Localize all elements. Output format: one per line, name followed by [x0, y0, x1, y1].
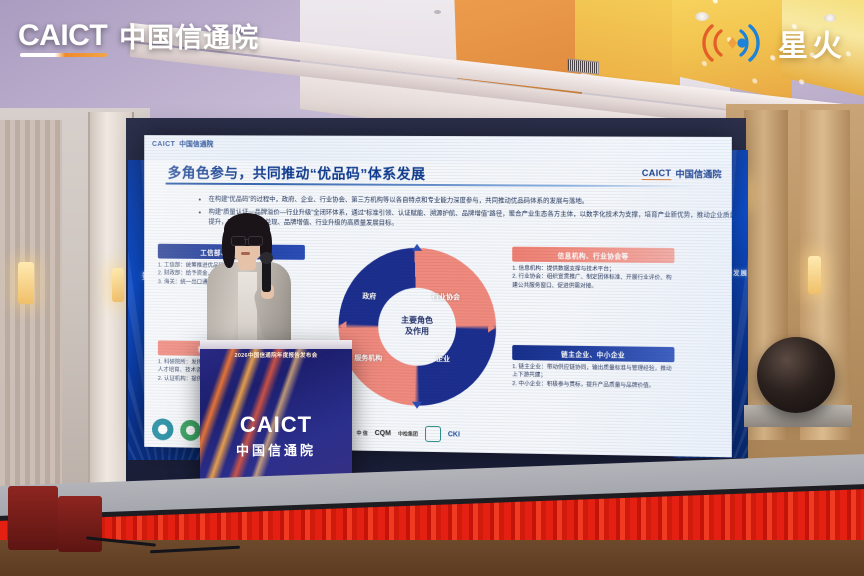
card-bottom-right-line-1: 1. 链主企业：带动供应链协同，输出质量标准与管理经验，推动上下游共建； — [512, 363, 674, 382]
card-bottom-right-header: 链主企业、中小企业 — [512, 345, 674, 362]
partner-logo-1 — [152, 418, 173, 440]
slide-brand-right-chinese: 中国信通院 — [675, 167, 721, 180]
card-top-right-body: 1. 信息机构：提供数据支撑与技术平台； 2. 行业协会：组织宣贯推广、制定团体… — [512, 265, 674, 292]
donut-segment-label-enterprise: 企业 — [436, 354, 450, 364]
wall-sconce-right — [808, 256, 821, 294]
podium-logo-latin: CAICT — [200, 412, 352, 438]
donut-arrow-right — [488, 323, 495, 333]
donut-center-line1: 主要角色 — [401, 316, 433, 327]
card-top-right-header: 信息机构、行业协会等 — [512, 247, 674, 264]
slide-brand-right: CAICT 中国信通院 — [642, 167, 722, 181]
partner-logo-9: 中 信 — [356, 429, 367, 436]
chair-left-2 — [58, 496, 102, 552]
podium-logo-chinese: 中国信通院 — [200, 440, 352, 459]
signal-waves-icon — [692, 20, 770, 66]
wall-sconce-left-2 — [112, 268, 124, 302]
card-bottom-right-body: 1. 链主企业：带动供应链协同，输出质量标准与管理经验，推动上下游共建； 2. … — [512, 363, 674, 391]
partner-logo-13: CKI — [448, 431, 460, 438]
speaker-hair-left — [222, 228, 235, 268]
slide-title: 多角色参与，共同推动“优品码”体系发展 — [168, 163, 426, 184]
watermark-caict-chinese: 中国信通院 — [119, 16, 259, 55]
chair-left-1 — [8, 486, 58, 550]
slide-brand-left-latin: CAICT — [152, 141, 175, 148]
glasses-icon-right-lens — [248, 236, 263, 246]
podium-logo: CAICT 中国信通院 — [200, 412, 352, 459]
donut-center-line2: 及作用 — [405, 327, 429, 338]
watermark-top-right: 星火 — [692, 20, 846, 66]
decorative-vase — [757, 337, 835, 413]
donut-segment-label-service: 服务机构 — [354, 353, 382, 363]
donut-arrow-top — [412, 244, 422, 251]
card-top-right-line-2: 2. 行业协会：组织宣贯推广、制定团体标准、开展行业评价、构建公共服务窗口、促进… — [512, 273, 674, 292]
slide-top-bar — [144, 135, 732, 163]
partner-logo-2 — [180, 419, 201, 440]
glasses-icon-bridge — [244, 239, 248, 240]
microphone-icon-head — [260, 252, 273, 264]
slide-brand-right-latin: CAICT — [642, 167, 672, 179]
glasses-icon-left-lens — [231, 236, 246, 246]
watermark-xinghuo-chinese: 星火 — [778, 21, 846, 65]
role-donut-chart: 主要角色 及作用 政府 行业协会 企业 服务机构 — [339, 247, 497, 407]
screenshot-root: 数据智能产 专题 数据智能产业创新发展 专题论坛 CAICT 中国信通院 CAI… — [0, 0, 864, 576]
slide-bullet-1: 在构建“优品码”的过程中，政府、企业、行业协会、第三方机构等以各自特点和专业能力… — [209, 195, 732, 208]
card-top-right: 信息机构、行业协会等 1. 信息机构：提供数据支撑与技术平台； 2. 行业协会：… — [512, 247, 674, 292]
card-bottom-right: 链主企业、中小企业 1. 链主企业：带动供应链协同，输出质量标准与管理经验，推动… — [512, 345, 674, 391]
speaker-mouth — [241, 252, 250, 255]
card-bottom-right-line-2: 2. 中小企业：积极参与贯标，提升产品质量与品牌价值。 — [512, 380, 674, 391]
slide-brand-left: CAICT 中国信通院 — [152, 139, 213, 149]
slide-brand-left-chinese: 中国信通院 — [179, 139, 213, 149]
partner-logo-11: 中检集团 — [398, 430, 418, 437]
donut-segment-label-government: 政府 — [362, 291, 376, 301]
slide-title-underline — [166, 183, 697, 188]
donut-arrow-bottom — [412, 402, 422, 409]
slide-bullet-2: 构建“质量认证—品牌溢价—行业升级”全闭环体系，通过“标准引领、认证赋能、溯源护… — [209, 208, 732, 232]
partner-logo-10: CQM — [375, 430, 391, 437]
partner-logo-12 — [425, 426, 441, 442]
watermark-caict-latin: CAICT — [18, 19, 107, 53]
podium-top-surface — [200, 340, 352, 349]
left-curtain — [0, 120, 62, 500]
donut-segment-label-association: 行业协会 — [432, 292, 460, 302]
ballroom-floor — [0, 540, 864, 576]
donut-arrow-left — [340, 321, 347, 331]
wall-sconce-left — [18, 262, 34, 304]
ceiling-recessed-light — [434, 10, 441, 14]
podium-header-text: 2026中国信通院年度报告发布会 — [200, 351, 352, 359]
watermark-top-left: CAICT 中国信通院 — [18, 16, 259, 55]
